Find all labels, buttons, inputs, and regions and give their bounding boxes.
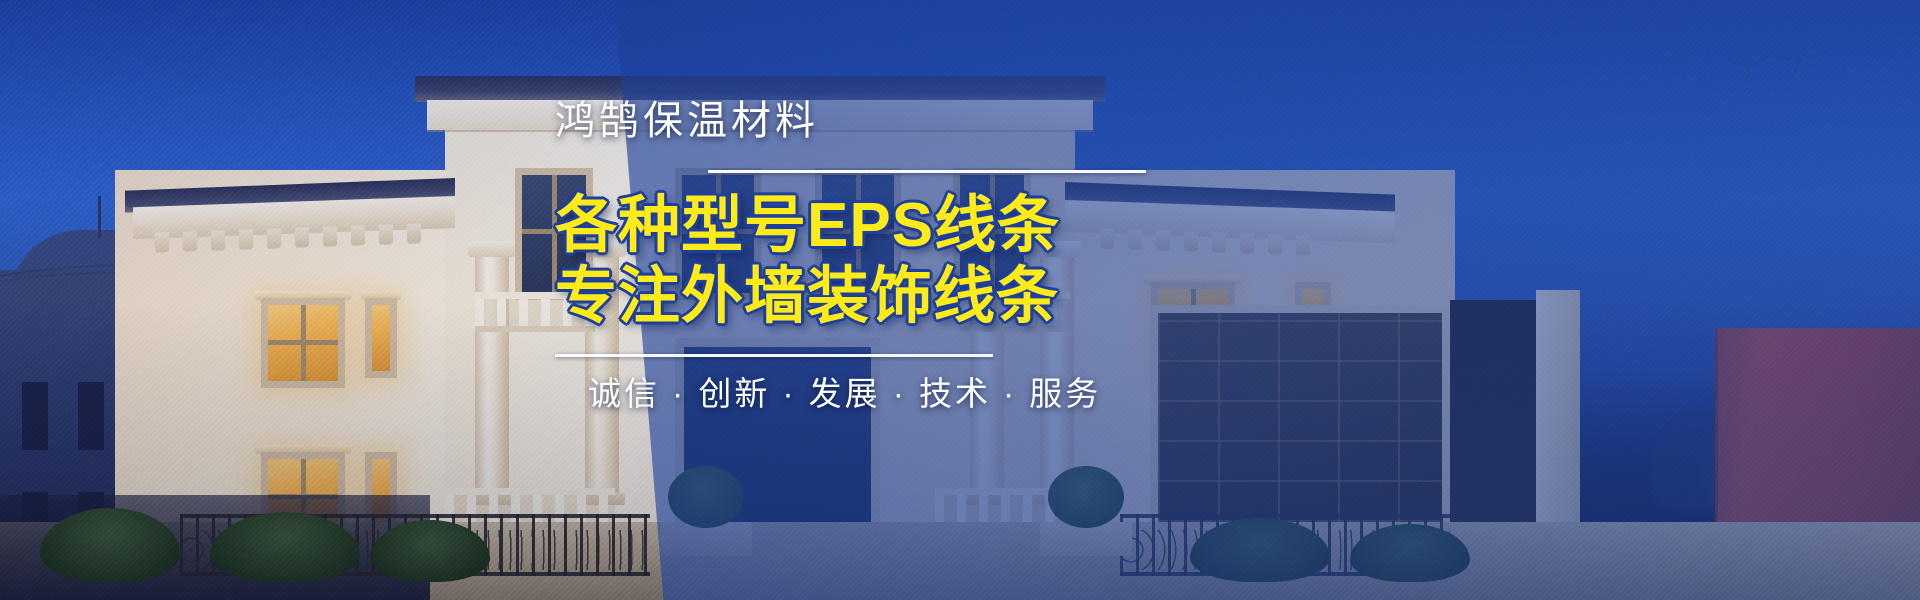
- banner-content: 鸿鹄保温材料 各种型号EPS线条 专注外墙装饰线条 诚信 · 创新 · 发展 ·…: [555, 96, 1455, 416]
- garage-recess: [1450, 300, 1536, 530]
- dentil: [351, 225, 365, 245]
- dentil: [407, 223, 421, 243]
- dentil: [295, 227, 309, 247]
- bare-branch-icon: [1650, 38, 1840, 98]
- window-mullion: [268, 340, 338, 345]
- topiary-shrub: [1048, 466, 1124, 528]
- headline-line-1: 各种型号EPS线条: [555, 191, 1455, 262]
- garage-pier: [1536, 290, 1580, 540]
- background-window: [22, 382, 48, 450]
- brand-name: 鸿鹄保温材料: [555, 96, 1455, 146]
- dentil: [155, 232, 169, 252]
- antenna-mast: [98, 196, 101, 238]
- dentil: [379, 224, 393, 244]
- dentil: [211, 230, 225, 250]
- headline-line-2: 专注外墙装饰线条: [555, 262, 1455, 333]
- column: [475, 255, 509, 495]
- dentil: [183, 231, 197, 251]
- background-window: [78, 382, 104, 450]
- topiary-shrub: [668, 466, 744, 528]
- divider-top: [708, 170, 1146, 173]
- dentil: [267, 228, 281, 248]
- dentil: [239, 229, 253, 249]
- lit-window: [261, 298, 345, 388]
- lit-window: [365, 298, 397, 378]
- value-tagline: 诚信 · 创新 · 发展 · 技术 · 服务: [588, 373, 1455, 416]
- dentil: [323, 226, 337, 246]
- promo-banner: 鸿鹄保温材料 各种型号EPS线条 专注外墙装饰线条 诚信 · 创新 · 发展 ·…: [0, 0, 1920, 600]
- divider-bottom: [555, 354, 993, 357]
